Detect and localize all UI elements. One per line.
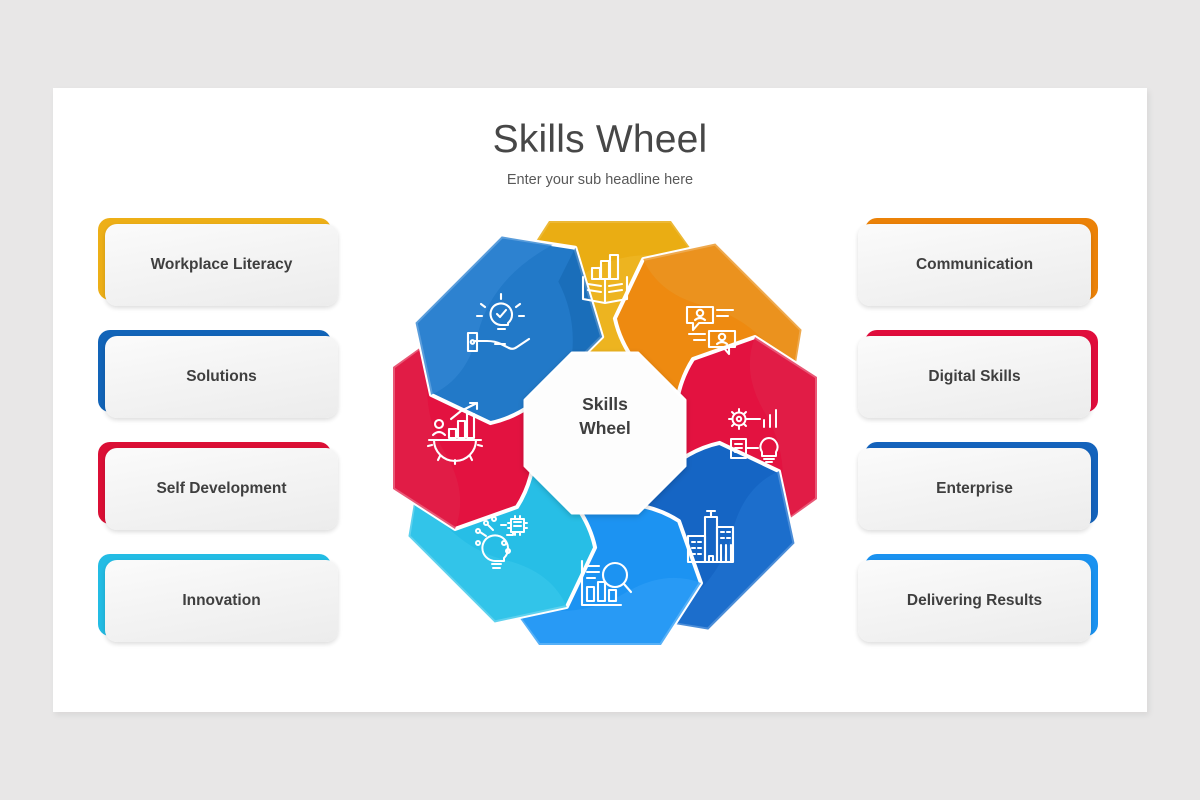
card-face: Communication (858, 224, 1091, 306)
card-face: Self Development (105, 448, 338, 530)
card-face: Delivering Results (858, 560, 1091, 642)
card-label: Workplace Literacy (151, 256, 293, 275)
card-face: Enterprise (858, 448, 1091, 530)
label-card-solutions[interactable]: Solutions (98, 330, 338, 418)
label-card-delivering-results[interactable]: Delivering Results (858, 554, 1098, 642)
card-face: Solutions (105, 336, 338, 418)
slide-canvas: Skills Wheel Enter your sub headline her… (53, 88, 1147, 712)
card-label: Innovation (182, 592, 260, 611)
label-card-self-development[interactable]: Self Development (98, 442, 338, 530)
label-card-workplace-literacy[interactable]: Workplace Literacy (98, 218, 338, 306)
page-title: Skills Wheel (53, 118, 1147, 162)
page-subtitle: Enter your sub headline here (53, 172, 1147, 188)
card-face: Workplace Literacy (105, 224, 338, 306)
label-card-enterprise[interactable]: Enterprise (858, 442, 1098, 530)
label-card-innovation[interactable]: Innovation (98, 554, 338, 642)
card-face: Innovation (105, 560, 338, 642)
label-card-communication[interactable]: Communication (858, 218, 1098, 306)
skills-wheel-diagram: Skills Wheel (370, 203, 840, 663)
card-label: Digital Skills (928, 368, 1020, 387)
card-face: Digital Skills (858, 336, 1091, 418)
card-label: Solutions (186, 368, 257, 387)
card-label: Communication (916, 256, 1033, 275)
wheel-center-octagon (525, 353, 685, 513)
card-label: Enterprise (936, 480, 1013, 499)
label-card-digital-skills[interactable]: Digital Skills (858, 330, 1098, 418)
card-label: Self Development (156, 480, 286, 499)
card-label: Delivering Results (907, 592, 1042, 611)
